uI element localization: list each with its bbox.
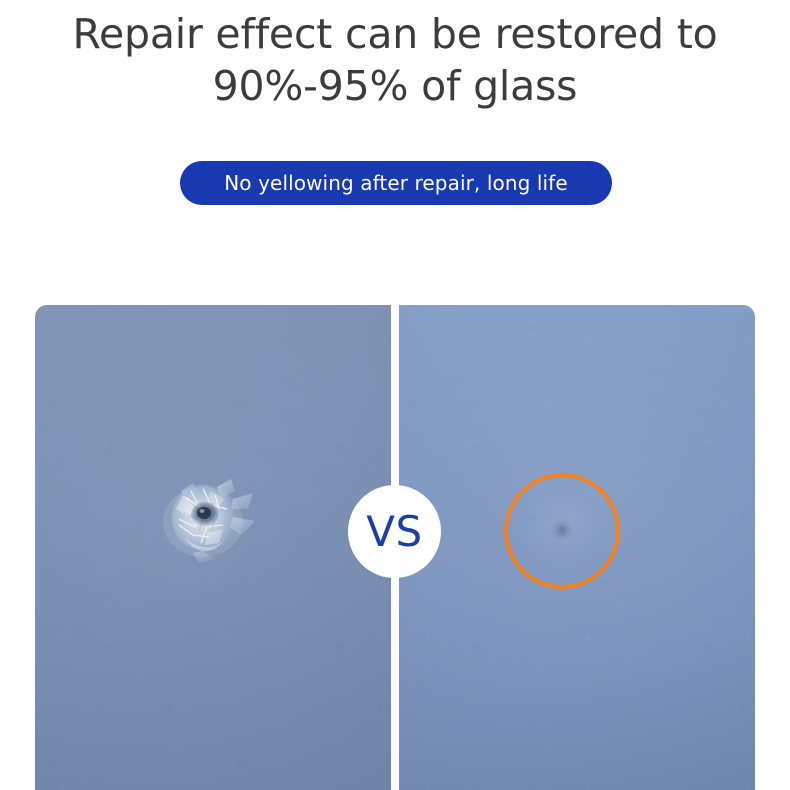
vs-badge: VS <box>348 485 441 578</box>
feature-badge: No yellowing after repair, long life <box>180 161 612 205</box>
headline-line-1: Repair effect can be restored to <box>0 8 790 60</box>
before-panel: Before <box>35 305 391 790</box>
highlight-circle-icon <box>504 473 620 589</box>
page-title: Repair effect can be restored to 90%-95%… <box>0 8 790 112</box>
after-panel: After <box>399 305 755 790</box>
glass-chip-damage-icon <box>145 465 275 575</box>
product-feature-image: Repair effect can be restored to 90%-95%… <box>0 0 790 790</box>
headline-line-2: 90%-95% of glass <box>0 60 790 112</box>
